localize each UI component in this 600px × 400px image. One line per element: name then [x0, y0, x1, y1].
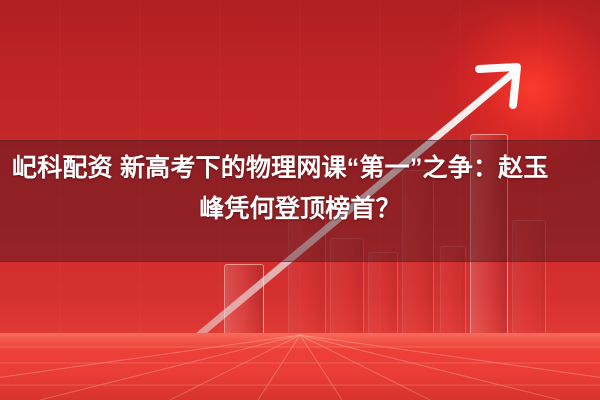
headline-line-2: 峰凭何登顶榜首？: [12, 189, 588, 230]
band-bottom-divider: [0, 261, 600, 262]
perspective-floor: [0, 333, 600, 400]
promo-banner: 屺科配资 新高考下的物理网课“第一”之争：赵玉 峰凭何登顶榜首？: [0, 0, 600, 400]
band-top-divider: [0, 140, 600, 141]
floor-bottom-shade: [0, 374, 600, 400]
headline-line-1: 屺科配资 新高考下的物理网课“第一”之争：赵玉: [12, 148, 588, 189]
page-title: 屺科配资 新高考下的物理网课“第一”之争：赵玉 峰凭何登顶榜首？: [0, 148, 600, 230]
